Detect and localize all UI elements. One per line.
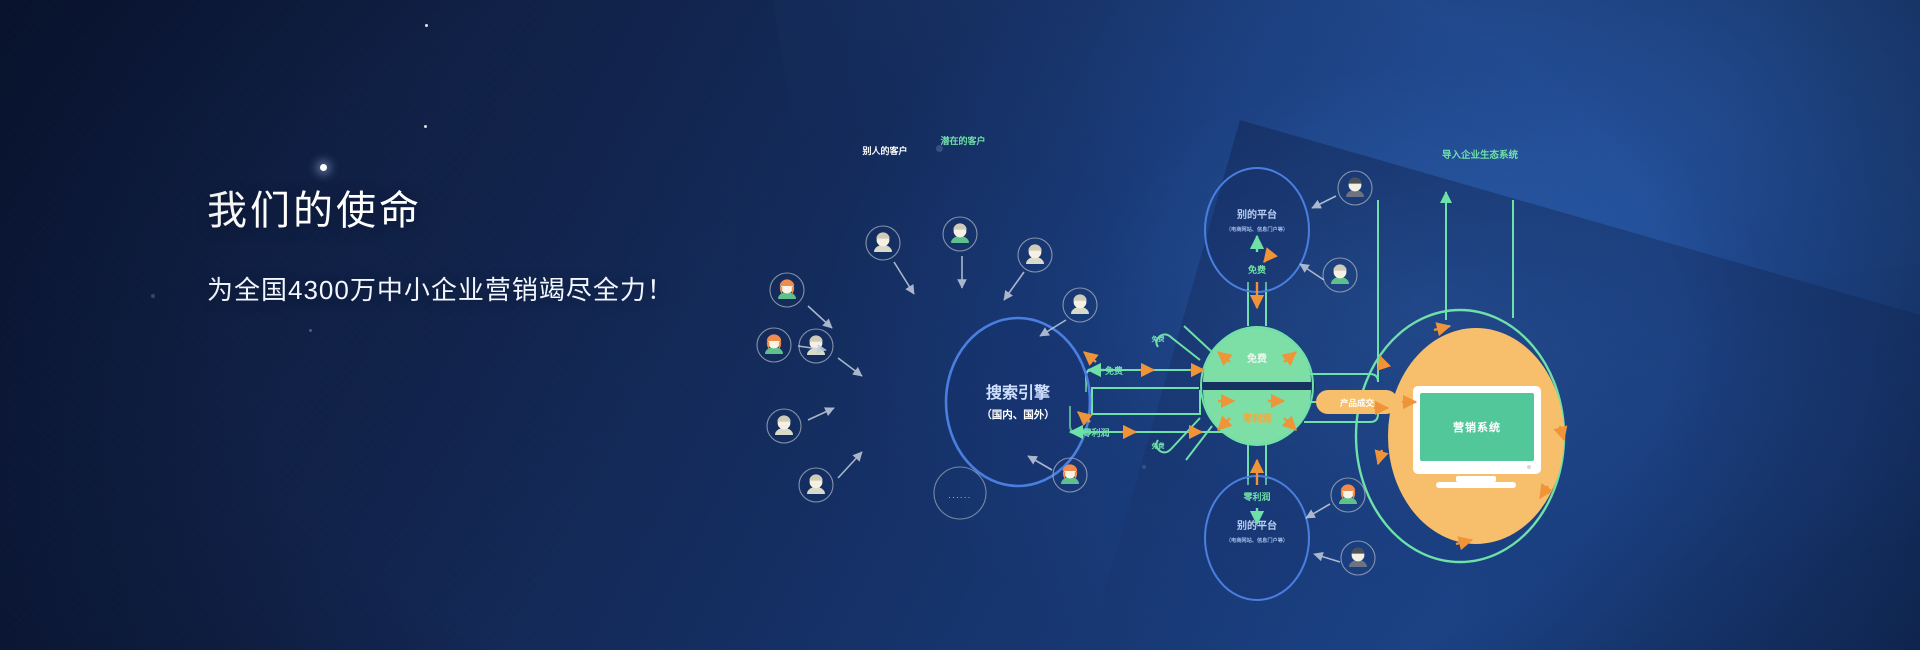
- sparkle-dot: [320, 164, 327, 171]
- deal-pill-label: 产品成交: [1340, 398, 1375, 408]
- monitor-icon: [1413, 386, 1541, 488]
- platform-top-badge: 免费: [1248, 264, 1266, 275]
- marketing-ecosystem-diagram: 营销系统 免费 零利润 产品成交 免费 零利润: [900, 130, 1600, 550]
- page-title: 我们的使命: [207, 178, 674, 236]
- sparkle-dot: [309, 329, 312, 332]
- sparkle-dot: [151, 294, 155, 298]
- platform-top-title: 别的平台: [1236, 208, 1277, 221]
- import-ecosystem-label: 导入企业生态系统: [1442, 149, 1519, 161]
- core-node: [1199, 326, 1315, 446]
- ellipsis-node-label: ......: [948, 490, 971, 500]
- flow-label-free-upper: 免费: [1105, 365, 1123, 376]
- potential-customers-label: 潜在的客户: [940, 135, 985, 146]
- platform-top-subtitle: （电商网站、信息门户等）: [1226, 225, 1288, 233]
- platform-bottom-subtitle: （电商网站、信息门户等）: [1226, 536, 1288, 544]
- core-top-label: 免费: [1247, 352, 1267, 365]
- hero-copy: 我们的使命 为全国4300万中小企业营销竭尽全力！: [207, 178, 674, 307]
- sparkle-dot: [424, 125, 427, 128]
- search-engine-subtitle: （国内、国外）: [981, 408, 1055, 421]
- page-subtitle: 为全国4300万中小企业营销竭尽全力！: [207, 270, 674, 307]
- others-customers-label: 别人的客户: [861, 145, 907, 156]
- sparkle-dot: [425, 24, 428, 27]
- search-engine-title: 搜索引擎: [986, 383, 1051, 402]
- platform-bottom-badge: 零利润: [1242, 491, 1270, 502]
- hero-banner: 我们的使命 为全国4300万中小企业营销竭尽全力！: [0, 0, 1920, 650]
- flow-label-free-branch-top: 免费: [1152, 334, 1166, 343]
- core-bottom-label: 零利润: [1242, 413, 1272, 425]
- flow-label-free-branch-bottom: 免费: [1152, 441, 1166, 450]
- search-engine-fill: [948, 320, 1088, 484]
- marketing-system-label: 营销系统: [1453, 420, 1501, 434]
